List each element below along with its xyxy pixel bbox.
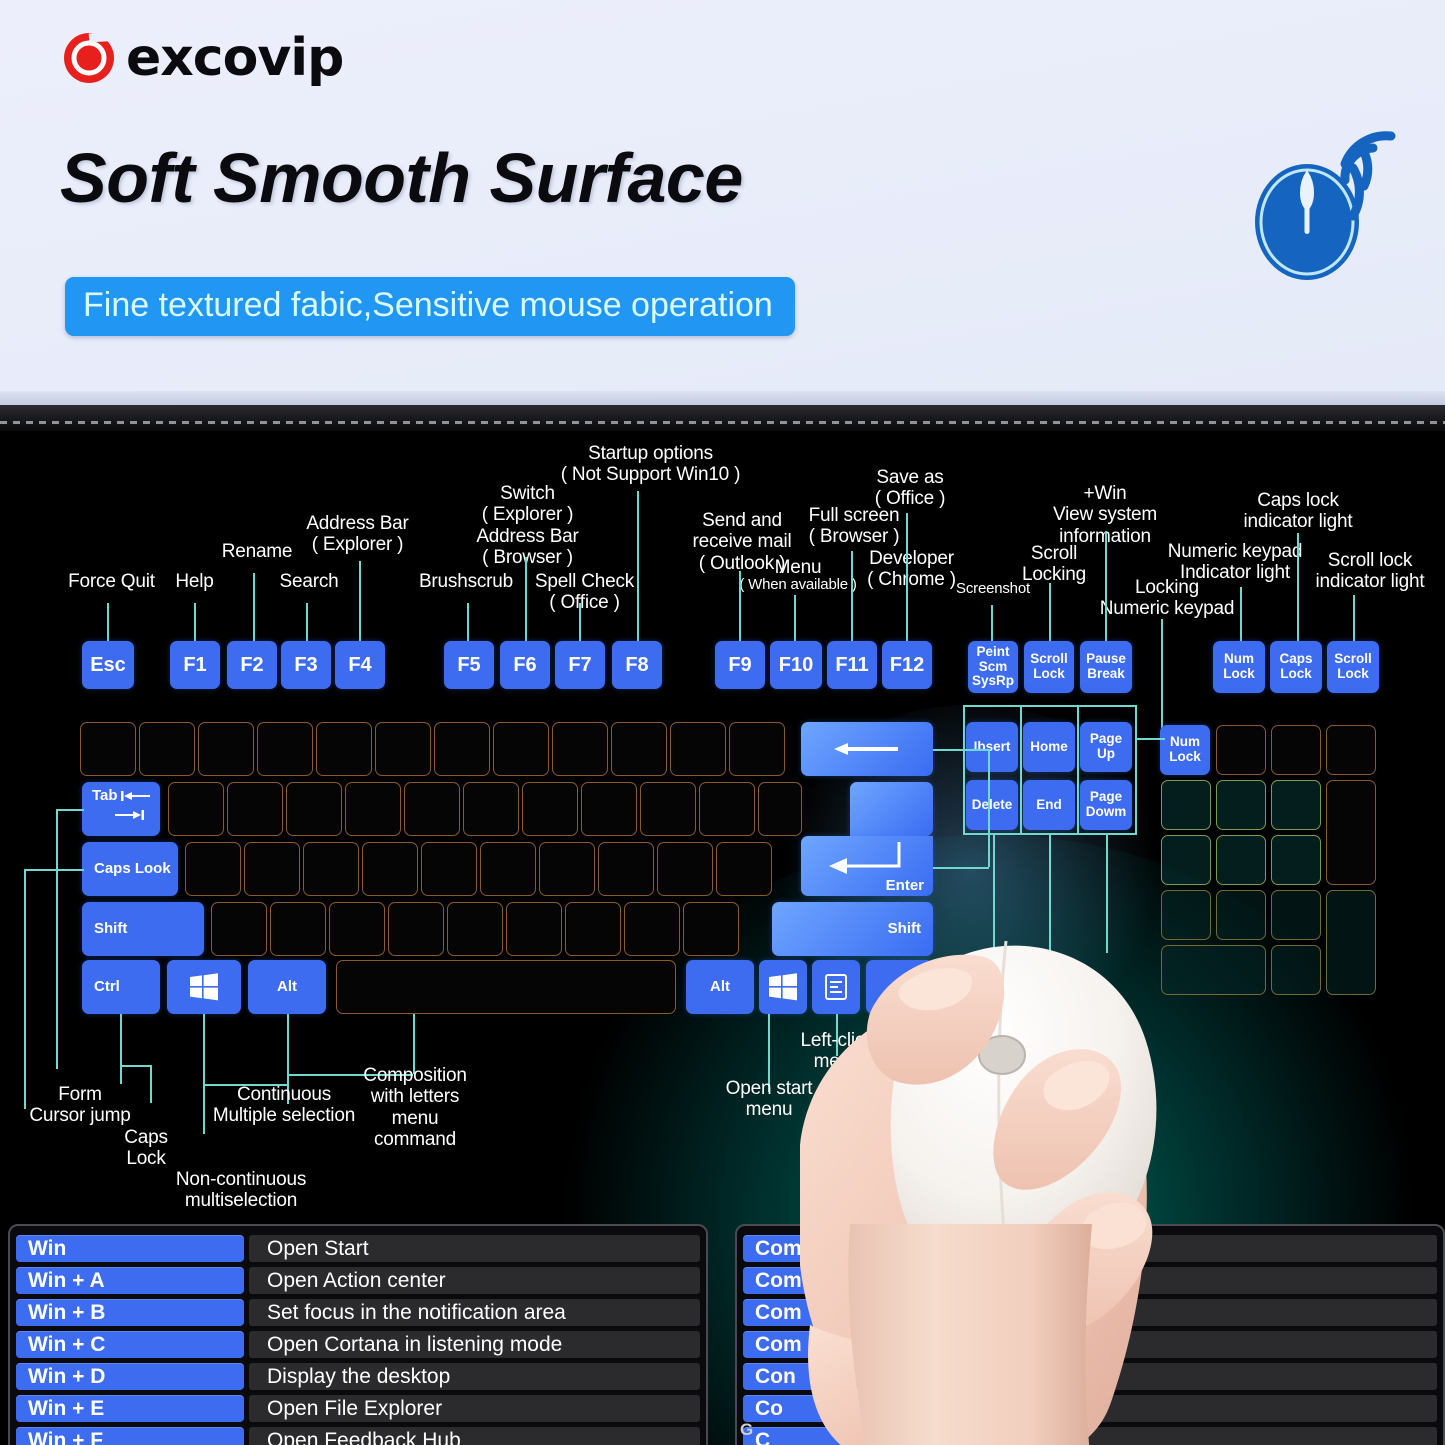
leader-line — [120, 1065, 150, 1067]
key-blank[interactable] — [657, 842, 713, 896]
key-blank[interactable] — [362, 842, 418, 896]
shortcut-desc: Open Action center — [249, 1267, 700, 1294]
leader-line — [906, 513, 908, 641]
leader-line — [933, 867, 989, 869]
key-blank[interactable] — [729, 722, 785, 776]
key-blank[interactable] — [598, 842, 654, 896]
leader-line — [1135, 705, 1137, 835]
table-row[interactable]: Win + D Display the desktop — [16, 1361, 700, 1392]
shortcut-desc: Set focus in the notification area — [249, 1299, 700, 1326]
key-blank[interactable] — [286, 782, 342, 836]
callout-numeric-keypad-light: Numeric keypad Indicator light — [1162, 541, 1308, 584]
key-numlock-pad[interactable]: Num Lock — [1160, 725, 1210, 775]
key-alt-right[interactable]: Alt — [686, 960, 754, 1014]
tab-left-arrow-icon — [121, 791, 151, 801]
leader-line — [306, 603, 308, 641]
shortcut-key: Win — [16, 1235, 244, 1262]
key-blank[interactable] — [168, 782, 224, 836]
key-pause-break[interactable]: Pause Break — [1080, 641, 1132, 693]
callout-help: Help — [152, 571, 237, 592]
windows-logo-icon — [768, 972, 798, 1002]
leader-line — [1161, 619, 1163, 739]
key-blank[interactable] — [329, 902, 385, 956]
key-enter[interactable]: Enter — [801, 836, 933, 896]
shortcut-desc: Open Start — [249, 1235, 700, 1262]
key-blank[interactable] — [463, 782, 519, 836]
callout-search: Search — [259, 571, 359, 592]
headline: Soft Smooth Surface — [60, 142, 743, 216]
key-blank[interactable] — [303, 842, 359, 896]
leader-line — [1077, 705, 1079, 833]
shortcut-desc: Open Feedback Hub — [249, 1427, 700, 1445]
leader-line — [963, 705, 1135, 707]
key-blank[interactable] — [1216, 725, 1266, 775]
brand-logo: excovip — [62, 31, 343, 85]
key-blank[interactable] — [1216, 890, 1266, 940]
windows-shortcuts-table: Win Open Start Win + A Open Action cente… — [8, 1224, 708, 1445]
shortcut-desc: Display the desktop — [249, 1363, 700, 1390]
key-blank[interactable] — [670, 722, 726, 776]
key-f3[interactable]: F3 — [281, 641, 331, 689]
key-shift-right[interactable]: Shift — [772, 902, 933, 956]
key-blank[interactable] — [716, 842, 772, 896]
key-blank[interactable] — [493, 722, 549, 776]
callout-switch-explorer: Switch ( Explorer ) Address Bar ( Browse… — [460, 483, 595, 569]
table-row[interactable]: Win + E Open File Explorer — [16, 1393, 700, 1424]
callout-address-bar-explorer: Address Bar ( Explorer ) — [285, 513, 430, 556]
leader-line — [194, 603, 196, 641]
leader-line — [120, 1014, 122, 1084]
key-f11[interactable]: F11 — [827, 641, 877, 689]
key-tab-label: Tab — [92, 788, 118, 805]
key-esc[interactable]: Esc — [82, 641, 134, 689]
table-row[interactable]: Win + A Open Action center — [16, 1265, 700, 1296]
leader-line — [993, 833, 995, 953]
key-blank[interactable] — [198, 722, 254, 776]
key-win-left[interactable] — [167, 960, 241, 1014]
leader-line — [525, 557, 527, 641]
callout-startup-options: Startup options ( Not Support Win10 ) — [548, 443, 753, 486]
key-end[interactable]: End — [1023, 780, 1075, 830]
leader-line — [1020, 705, 1022, 833]
leader-line — [359, 561, 361, 641]
context-menu-icon — [823, 972, 849, 1002]
enter-arrow-icon — [823, 840, 905, 882]
key-scroll-lock[interactable]: Scroll Lock — [1024, 641, 1074, 693]
table-row[interactable]: Win + B Set focus in the notification ar… — [16, 1297, 700, 1328]
leader-line — [739, 571, 741, 641]
key-blank[interactable] — [345, 782, 401, 836]
shortcut-key: Win + F — [16, 1427, 244, 1445]
key-blank[interactable] — [552, 722, 608, 776]
key-alt-left[interactable]: Alt — [248, 960, 326, 1014]
key-f6[interactable]: F6 — [500, 641, 550, 689]
key-caps-lock[interactable]: Caps Look — [82, 842, 178, 896]
callout-caps-lock: Caps Lock — [110, 1127, 182, 1170]
leader-line — [1106, 833, 1108, 953]
brand-name: excovip — [126, 32, 343, 84]
leader-line — [24, 869, 26, 1109]
key-blank[interactable] — [388, 902, 444, 956]
leader-line — [253, 573, 255, 641]
callout-non-continuous: Non-continuous multiselection — [160, 1169, 322, 1212]
leader-line — [637, 491, 639, 641]
key-f7[interactable]: F7 — [555, 641, 605, 689]
leader-line — [56, 809, 84, 811]
leader-line — [851, 551, 853, 641]
key-blank[interactable] — [270, 902, 326, 956]
key-enter-top[interactable] — [850, 782, 933, 836]
key-blank[interactable] — [1161, 945, 1266, 995]
shortcut-key: Win + B — [16, 1299, 244, 1326]
callout-brushscrub: Brushscrub — [406, 571, 526, 592]
callout-open-start-menu: Open start menu — [706, 1078, 832, 1121]
key-insert[interactable]: Ibsert — [966, 722, 1018, 772]
key-blank[interactable] — [139, 722, 195, 776]
tab-right-arrow-icon — [114, 810, 144, 820]
shortcut-key: Win + A — [16, 1267, 244, 1294]
shortcut-key: Win + E — [16, 1395, 244, 1422]
key-win-right[interactable] — [759, 960, 807, 1014]
key-backspace[interactable] — [801, 722, 933, 776]
table-row[interactable]: Win Open Start — [16, 1233, 700, 1264]
key-blank[interactable] — [506, 902, 562, 956]
key-blank[interactable] — [565, 902, 621, 956]
key-blank[interactable] — [611, 722, 667, 776]
key-blank[interactable] — [1271, 725, 1321, 775]
key-blank[interactable] — [1326, 725, 1376, 775]
key-blank[interactable] — [699, 782, 755, 836]
shortcut-desc: Open Cortana in listening mode — [249, 1331, 700, 1358]
leader-line — [794, 595, 796, 641]
key-f2[interactable]: F2 — [227, 641, 277, 689]
callout-spell-check: Spell Check ( Office ) — [518, 571, 651, 614]
leader-line — [1049, 583, 1051, 641]
leader-line — [1049, 833, 1051, 953]
left-arrow-icon — [832, 741, 902, 757]
shortcut-key: Win + D — [16, 1363, 244, 1390]
leader-line — [1105, 531, 1107, 641]
key-f5[interactable]: F5 — [444, 641, 494, 689]
key-print-screen[interactable]: Peint Scm SysRp — [968, 641, 1018, 693]
key-space[interactable] — [336, 960, 676, 1014]
forearm-overlay — [790, 1224, 1150, 1445]
scroll-wheel — [979, 1036, 1025, 1074]
key-blank[interactable] — [480, 842, 536, 896]
key-f12[interactable]: F12 — [882, 641, 932, 689]
key-f4[interactable]: F4 — [335, 641, 385, 689]
key-blank[interactable] — [244, 842, 300, 896]
excovip-target-icon — [62, 31, 116, 85]
key-blank[interactable] — [624, 902, 680, 956]
key-page-down[interactable]: Page Dowm — [1080, 780, 1132, 830]
shortcut-desc: Open File Explorer — [249, 1395, 700, 1422]
key-blank[interactable] — [640, 782, 696, 836]
callout-scroll-lock-light: Scroll lock indicator light — [1300, 550, 1440, 593]
edge-letter-g: G — [740, 1420, 753, 1440]
key-blank[interactable] — [758, 782, 802, 836]
key-blank[interactable] — [1161, 890, 1211, 940]
key-blank[interactable] — [581, 782, 637, 836]
leader-line — [56, 809, 58, 1069]
indicator-num-lock[interactable]: Num Lock — [1213, 641, 1265, 693]
callout-scroll-locking: Scroll Locking — [1008, 543, 1100, 586]
key-delete[interactable]: Delete — [966, 780, 1018, 830]
key-blank[interactable] — [434, 722, 490, 776]
key-f10[interactable]: F10 — [770, 641, 822, 689]
key-blank[interactable] — [1216, 835, 1266, 885]
callout-left-click-menu: Left-click menu — [785, 1030, 889, 1073]
key-home[interactable]: Home — [1023, 722, 1075, 772]
fabric-stitched-edge — [0, 405, 1445, 431]
leader-line — [107, 603, 109, 641]
leader-line — [1135, 738, 1165, 740]
subheadline-badge: Fine textured fabic,Sensitive mouse oper… — [65, 277, 795, 336]
table-row[interactable]: Win + C Open Cortana in listening mode — [16, 1329, 700, 1360]
key-blank[interactable] — [316, 722, 372, 776]
key-tab[interactable]: Tab — [82, 782, 160, 836]
leader-line — [467, 603, 469, 641]
key-blank[interactable] — [447, 902, 503, 956]
key-enter-label: Enter — [886, 878, 924, 895]
callout-full-screen: Full screen ( Browser ) — [793, 505, 915, 548]
key-f1[interactable]: F1 — [170, 641, 220, 689]
callout-composition-letters: Composition with letters menu command — [345, 1065, 485, 1151]
leader-line — [24, 869, 84, 871]
key-blank[interactable] — [1326, 890, 1376, 995]
leader-line — [988, 749, 990, 867]
key-blank[interactable] — [1161, 835, 1211, 885]
key-blank[interactable] — [227, 782, 283, 836]
key-blank[interactable] — [257, 722, 313, 776]
shortcut-key: Win + C — [16, 1331, 244, 1358]
leader-line — [150, 1065, 152, 1103]
key-blank[interactable] — [1271, 780, 1321, 830]
callout-menu-note: ( When available ) — [733, 577, 863, 594]
top-banner: excovip Soft Smooth Surface Fine texture… — [0, 0, 1445, 405]
key-blank[interactable] — [404, 782, 460, 836]
key-blank[interactable] — [1271, 890, 1321, 940]
key-ctrl-left[interactable]: Ctrl — [82, 960, 160, 1014]
windows-logo-icon — [189, 972, 219, 1002]
indicator-caps-lock[interactable]: Caps Lock — [1270, 641, 1322, 693]
key-page-up[interactable]: Page Up — [1080, 722, 1132, 772]
key-blank[interactable] — [80, 722, 136, 776]
indicator-scroll-lock[interactable]: Scroll Lock — [1327, 641, 1379, 693]
key-blank[interactable] — [522, 782, 578, 836]
key-blank[interactable] — [375, 722, 431, 776]
key-blank[interactable] — [683, 902, 739, 956]
wireless-mouse-icon — [1245, 124, 1415, 284]
key-blank[interactable] — [185, 842, 241, 896]
key-f8[interactable]: F8 — [612, 641, 662, 689]
key-menu[interactable] — [812, 960, 860, 1014]
leader-line — [1240, 587, 1242, 641]
key-blank[interactable] — [421, 842, 477, 896]
key-f9[interactable]: F9 — [715, 641, 765, 689]
key-shift-left[interactable]: Shift — [82, 902, 204, 956]
key-blank[interactable] — [1271, 945, 1321, 995]
key-blank[interactable] — [539, 842, 595, 896]
leader-line — [1297, 533, 1299, 641]
leader-line — [1353, 595, 1355, 641]
table-row[interactable]: Win + F Open Feedback Hub — [16, 1425, 700, 1445]
callout-save-as: Save as ( Office ) — [866, 467, 954, 510]
key-blank[interactable] — [211, 902, 267, 956]
key-blank[interactable] — [1326, 780, 1376, 885]
key-blank[interactable] — [1161, 780, 1211, 830]
callout-form-cursor-jump: Form Cursor jump — [18, 1084, 142, 1127]
leader-line — [991, 605, 993, 641]
product-infographic: excovip Soft Smooth Surface Fine texture… — [0, 0, 1445, 1445]
key-blank[interactable] — [1216, 780, 1266, 830]
leader-line — [579, 603, 581, 641]
callout-caps-lock-light: Caps lock indicator light — [1228, 490, 1368, 533]
callout-partial-obscured: Li Cor — [805, 1123, 869, 1166]
leader-line — [963, 705, 965, 835]
key-blank[interactable] — [1271, 835, 1321, 885]
key-ctrl-right[interactable]: Ctrl — [866, 960, 933, 1014]
leader-line — [933, 749, 989, 751]
